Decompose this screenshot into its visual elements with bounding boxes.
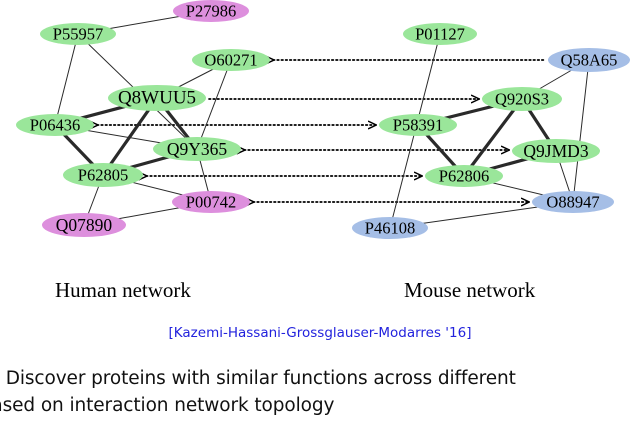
node-label: Q920S3 (495, 90, 549, 109)
human-node-P00742[interactable]: P00742 (172, 191, 250, 213)
mouse-network-label: Mouse network (404, 278, 535, 303)
caption-line-2: cies based on interaction network topolo… (0, 393, 638, 420)
mouse-node-Q9JMD3[interactable]: Q9JMD3 (512, 139, 600, 163)
node-label: Q8WUU5 (118, 88, 196, 109)
network-edges-layer (55, 11, 589, 228)
human-node-Q07890[interactable]: Q07890 (42, 213, 126, 237)
node-label: Q9JMD3 (523, 141, 588, 161)
mouse-network-edge (573, 60, 589, 202)
mouse-node-Q920S3[interactable]: Q920S3 (482, 87, 562, 111)
caption-line-1: tology: Discover proteins with similar f… (0, 366, 638, 393)
node-label: P62805 (78, 166, 128, 185)
human-node-O60271[interactable]: O60271 (192, 49, 270, 71)
human-node-P27986[interactable]: P27986 (173, 0, 249, 22)
node-label: P06436 (30, 116, 80, 135)
caption-rest: : Discover proteins with similar functio… (0, 368, 516, 389)
node-label: P62806 (439, 167, 489, 186)
human-node-Q9Y365[interactable]: Q9Y365 (153, 137, 241, 161)
node-label: P01127 (415, 25, 465, 44)
node-label: P46108 (365, 219, 415, 238)
mouse-node-P01127[interactable]: P01127 (403, 23, 477, 45)
human-node-Q8WUU5[interactable]: Q8WUU5 (108, 85, 206, 111)
node-label: O88947 (546, 193, 599, 212)
node-label: P00742 (186, 193, 236, 212)
caption-text: tology: Discover proteins with similar f… (0, 366, 638, 420)
human-network-edge (55, 34, 78, 125)
node-label: Q9Y365 (167, 139, 228, 159)
protein-nodes-layer: P27986P55957O60271Q8WUU5P06436Q9Y365P628… (16, 0, 630, 239)
human-node-P06436[interactable]: P06436 (16, 114, 94, 136)
node-label: P55957 (53, 25, 103, 44)
mouse-node-Q58A65[interactable]: Q58A65 (548, 48, 630, 72)
node-label: Q07890 (56, 215, 113, 235)
node-label: P58391 (393, 116, 443, 135)
human-node-P62805[interactable]: P62805 (63, 163, 143, 187)
human-network-label: Human network (55, 278, 191, 303)
mouse-node-O88947[interactable]: O88947 (532, 191, 614, 213)
mouse-node-P62806[interactable]: P62806 (425, 165, 503, 187)
protein-network-diagram: P27986P55957O60271Q8WUU5P06436Q9Y365P628… (0, 0, 640, 258)
mouse-node-P46108[interactable]: P46108 (352, 217, 428, 239)
node-label: O60271 (204, 51, 257, 70)
slide-canvas: P27986P55957O60271Q8WUU5P06436Q9Y365P628… (0, 0, 640, 427)
citation-reference: [Kazemi-Hassani-Grossglauser-Modarres '1… (0, 325, 640, 341)
mouse-node-P58391[interactable]: P58391 (379, 114, 457, 136)
human-node-P55957[interactable]: P55957 (40, 23, 116, 45)
node-label: Q58A65 (561, 51, 618, 70)
node-label: P27986 (186, 2, 236, 21)
human-network-edge (197, 60, 231, 149)
